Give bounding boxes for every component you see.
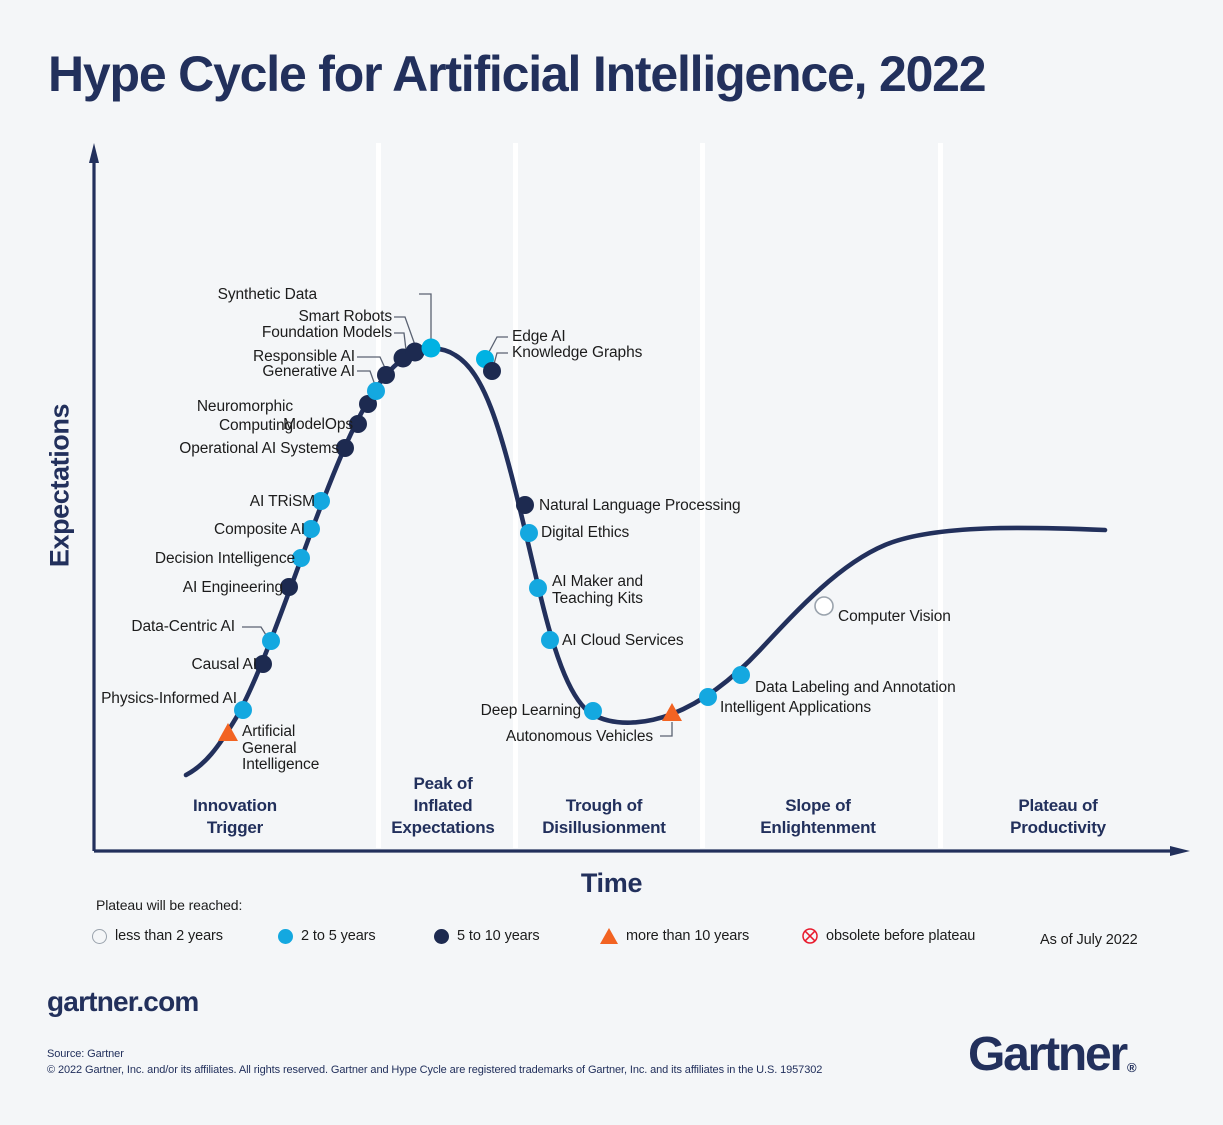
label-decision-intelligence: Decision Intelligence xyxy=(155,550,295,567)
marker-synthetic-data[interactable] xyxy=(422,339,441,358)
legend-item-more-than-10-years[interactable]: more than 10 years xyxy=(600,928,749,944)
label-artificial-general-intelligence: ArtificialGeneralIntelligence xyxy=(242,724,334,774)
legend: less than 2 years 2 to 5 years 5 to 10 y… xyxy=(92,928,1152,952)
label-physics-informed-ai: Physics-Informed AI xyxy=(101,690,237,707)
label-autonomous-vehicles: Autonomous Vehicles xyxy=(506,728,653,745)
source-text: Source: Gartner xyxy=(47,1048,124,1060)
legend-item-2-to-5-years[interactable]: 2 to 5 years xyxy=(278,928,376,944)
phase-line-2: Productivity xyxy=(1010,818,1106,837)
label-generative-ai: Generative AI xyxy=(262,363,355,380)
label-natural-language-processing: Natural Language Processing xyxy=(539,497,741,514)
label-composite-ai: Composite AI xyxy=(214,521,305,538)
marker-smart-robots[interactable] xyxy=(406,343,425,362)
label-modelops: ModelOps xyxy=(283,416,353,433)
label-ai-maker-and-teaching-kits: AI Maker andTeaching Kits xyxy=(552,573,672,607)
marker-artificial-general-intelligence[interactable] xyxy=(218,723,238,741)
marker-responsible-ai[interactable] xyxy=(377,366,395,384)
label-ai-engineering: AI Engineering xyxy=(183,579,283,596)
circle-navy-icon xyxy=(434,929,449,944)
marker-computer-vision[interactable] xyxy=(815,597,833,615)
triangle-orange-icon xyxy=(600,928,618,944)
label-synthetic-data: Synthetic Data xyxy=(218,286,317,303)
circle-hollow-icon xyxy=(92,929,107,944)
copyright-text: © 2022 Gartner, Inc. and/or its affiliat… xyxy=(47,1064,822,1076)
marker-intelligent-applications[interactable] xyxy=(699,688,717,706)
legend-heading: Plateau will be reached: xyxy=(96,897,242,913)
label-smart-robots: Smart Robots xyxy=(298,308,392,325)
circle-x-red-icon xyxy=(802,928,818,944)
hype-cycle-curve xyxy=(186,349,1105,775)
phase-line-2: Inflated xyxy=(414,796,473,815)
label-ai-cloud-services: AI Cloud Services xyxy=(562,632,684,649)
label-intelligent-applications: Intelligent Applications xyxy=(720,699,871,716)
label-deep-learning: Deep Learning xyxy=(481,702,581,719)
marker-data-labeling-and-annotation[interactable] xyxy=(732,666,750,684)
legend-label: obsolete before plateau xyxy=(826,928,975,944)
phase-line-1: Innovation xyxy=(193,796,277,815)
label-digital-ethics: Digital Ethics xyxy=(541,524,629,541)
label-data-centric-ai: Data-Centric AI xyxy=(131,618,235,635)
label-knowledge-graphs: Knowledge Graphs xyxy=(512,344,642,361)
legend-label: less than 2 years xyxy=(115,928,223,944)
phase-line-1: Trough of xyxy=(566,796,643,815)
phase-line-3: Expectations xyxy=(391,818,494,837)
phase-line-2: Enlightenment xyxy=(760,818,875,837)
label-ai-trism: AI TRiSM xyxy=(250,493,315,510)
circle-blue-icon xyxy=(278,929,293,944)
phase-line-2: Disillusionment xyxy=(542,818,666,837)
label-operational-ai-systems: Operational AI Systems xyxy=(179,440,339,457)
phase-line-2: Trigger xyxy=(207,818,263,837)
phase-peak-of-inflated-expectations: Peak of Inflated Expectations xyxy=(372,773,514,839)
gartner-logo: Gartner® xyxy=(968,1027,1136,1082)
phase-slope-of-enlightenment: Slope of Enlightenment xyxy=(728,795,908,839)
marker-ai-maker-and-teaching-kits[interactable] xyxy=(529,579,547,597)
marker-knowledge-graphs[interactable] xyxy=(483,362,501,380)
marker-natural-language-processing[interactable] xyxy=(516,496,534,514)
phase-innovation-trigger: Innovation Trigger xyxy=(160,795,310,839)
label-foundation-models: Foundation Models xyxy=(262,324,392,341)
gartner-logo-text: Gartner xyxy=(968,1028,1126,1081)
marker-ai-cloud-services[interactable] xyxy=(541,631,559,649)
phase-line-1: Peak of xyxy=(413,774,472,793)
marker-data-centric-ai[interactable] xyxy=(262,632,280,650)
label-data-labeling-and-annotation: Data Labeling and Annotation xyxy=(755,679,956,696)
legend-item-obsolete-before-plateau[interactable]: obsolete before plateau xyxy=(802,928,975,944)
phase-line-1: Plateau of xyxy=(1018,796,1097,815)
hype-cycle-figure: Hype Cycle for Artificial Intelligence, … xyxy=(0,0,1223,1125)
gartner-site-link[interactable]: gartner.com xyxy=(47,986,198,1018)
label-edge-ai: Edge AI xyxy=(512,328,566,345)
registered-mark: ® xyxy=(1127,1060,1137,1075)
marker-deep-learning[interactable] xyxy=(584,702,602,720)
phase-plateau-of-productivity: Plateau of Productivity xyxy=(972,795,1144,839)
label-causal-ai: Causal AI xyxy=(192,656,257,673)
legend-item-less-than-2-years[interactable]: less than 2 years xyxy=(92,928,223,944)
legend-label: 2 to 5 years xyxy=(301,928,376,944)
marker-digital-ethics[interactable] xyxy=(520,524,538,542)
legend-item-5-to-10-years[interactable]: 5 to 10 years xyxy=(434,928,540,944)
phase-line-1: Slope of xyxy=(785,796,850,815)
marker-generative-ai[interactable] xyxy=(367,382,385,400)
as-of-date: As of July 2022 xyxy=(1040,932,1138,948)
label-neuromorphic-computing: Neuromorphic Computing xyxy=(133,397,293,435)
legend-label: 5 to 10 years xyxy=(457,928,540,944)
phase-trough-of-disillusionment: Trough of Disillusionment xyxy=(520,795,688,839)
legend-label: more than 10 years xyxy=(626,928,749,944)
label-computer-vision: Computer Vision xyxy=(838,608,951,625)
